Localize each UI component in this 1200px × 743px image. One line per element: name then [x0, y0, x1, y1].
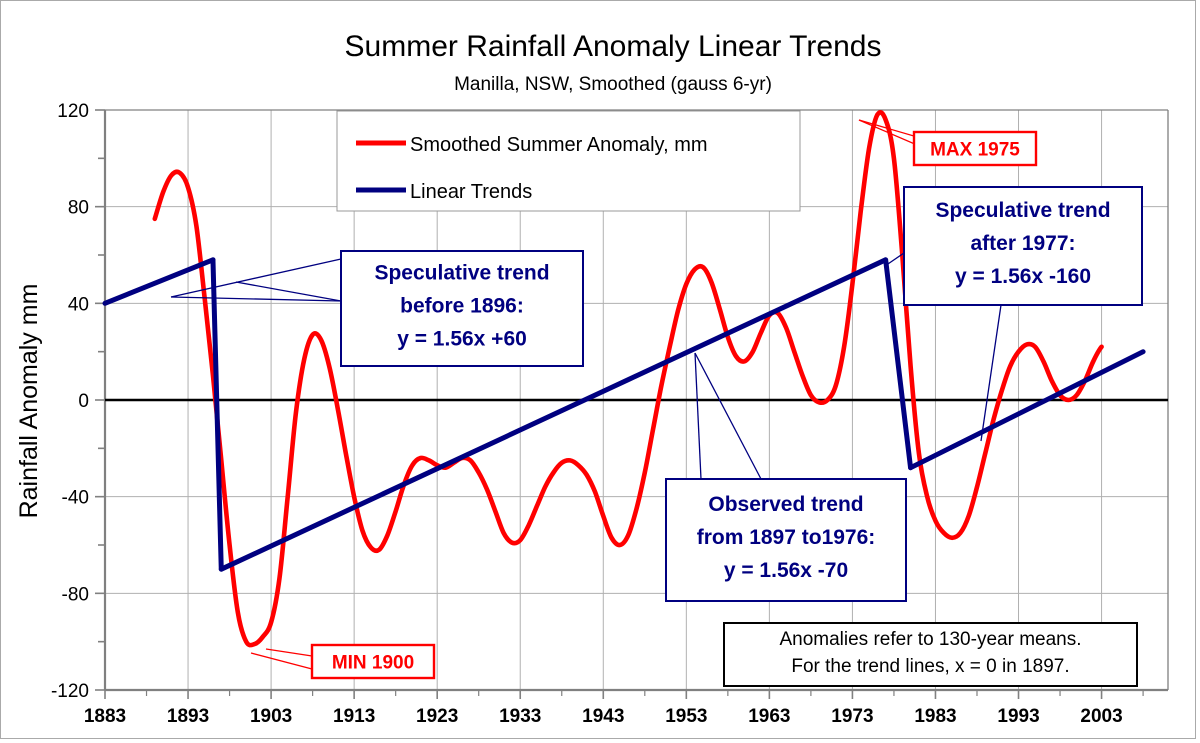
x-axis-tick-label: 1913	[333, 706, 375, 727]
callout-text-observed: Observed trend	[708, 493, 863, 516]
callout-text-min-1900: MIN 1900	[332, 653, 414, 674]
x-axis-tick-label: 1973	[831, 706, 873, 727]
y-axis-tick-label: 40	[68, 294, 89, 315]
chart-title: Summer Rainfall Anomaly Linear Trends	[345, 30, 882, 63]
x-axis-tick-label: 1953	[665, 706, 707, 727]
x-axis-tick-label: 1883	[84, 706, 126, 727]
legend-box	[337, 111, 800, 211]
y-axis-tick-label: 0	[78, 391, 89, 412]
x-axis-tick-labels: 1883189319031913192319331943195319631973…	[84, 706, 1123, 727]
chart-subtitle: Manilla, NSW, Smoothed (gauss 6-yr)	[454, 74, 772, 95]
callout-text-spec-after: after 1977:	[970, 232, 1075, 255]
callout-text-observed: from 1897 to1976:	[697, 526, 876, 549]
callout-text-max-1975: MAX 1975	[930, 140, 1020, 161]
y-axis-tick-label: -40	[62, 488, 89, 509]
y-axis-tick-label: 80	[68, 198, 89, 219]
x-axis-tick-label: 1893	[167, 706, 209, 727]
x-axis-tick-label: 1963	[748, 706, 790, 727]
chart-legend[interactable]: Smoothed Summer Anomaly, mmLinear Trends	[337, 111, 800, 211]
callout-text-footnote: For the trend lines, x = 0 in 1897.	[791, 656, 1069, 677]
x-axis-tick-label: 1923	[416, 706, 458, 727]
x-axis-tick-label: 1933	[499, 706, 541, 727]
legend-label[interactable]: Linear Trends	[410, 181, 532, 203]
callout-text-spec-after: y = 1.56x -160	[955, 265, 1091, 288]
chart-figure: 12080400-40-80-120 188318931903191319231…	[0, 0, 1196, 739]
callout-text-spec-before: Speculative trend	[374, 262, 549, 285]
callout-text-spec-after: Speculative trend	[935, 199, 1110, 222]
y-axis-tick-label: -120	[51, 681, 89, 702]
legend-label[interactable]: Smoothed Summer Anomaly, mm	[410, 134, 708, 156]
x-axis-tick-label: 2003	[1080, 706, 1122, 727]
x-axis-tick-label: 1983	[914, 706, 956, 727]
y-axis-tick-labels: 12080400-40-80-120	[51, 101, 89, 702]
callout-text-spec-before: before 1896:	[400, 295, 524, 318]
callout-text-observed: y = 1.56x -70	[724, 559, 848, 582]
x-axis-tick-label: 1993	[997, 706, 1039, 727]
x-axis-tick-label: 1903	[250, 706, 292, 727]
x-axis-tick-label: 1943	[582, 706, 624, 727]
callout-text-footnote: Anomalies refer to 130-year means.	[779, 629, 1081, 650]
y-axis-tick-label: -80	[62, 584, 89, 605]
callout-text-spec-before: y = 1.56x +60	[397, 328, 527, 351]
y-axis-title: Rainfall Anomaly mm	[15, 284, 43, 519]
y-axis-tick-label: 120	[57, 101, 89, 122]
chart-canvas: 12080400-40-80-120 188318931903191319231…	[1, 1, 1195, 738]
